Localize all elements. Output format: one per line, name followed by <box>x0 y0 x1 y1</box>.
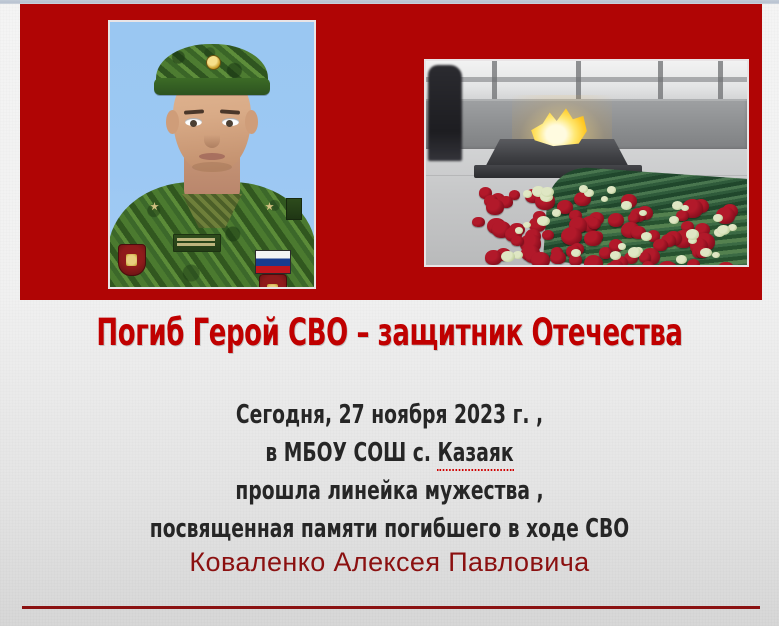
uniform-nametag-patch <box>173 234 221 252</box>
carnation-calyx <box>537 216 550 226</box>
body-paragraph: Сегодня, 27 ноября 2023 г. , в МБОУ СОШ … <box>0 396 779 548</box>
misspelled-word-kazayak: Казаяк <box>437 438 513 471</box>
carnation-flower <box>542 230 553 240</box>
hero-name: Коваленко Алексея Павловича <box>0 546 779 578</box>
carnation-flower <box>657 261 678 265</box>
carnation-flower <box>588 218 601 229</box>
memorial-slide: Погиб Герой СВО – защитник Отечества Сег… <box>0 0 779 626</box>
carnation-calyx <box>601 196 608 202</box>
nose <box>204 126 220 148</box>
red-banner-block <box>20 4 762 300</box>
ear-left <box>166 110 179 134</box>
unit-patch-left-icon <box>118 244 146 276</box>
carnation-calyx <box>700 248 712 257</box>
russian-flag-patch-icon <box>255 250 291 274</box>
carnation-calyx <box>717 225 730 235</box>
pupil-right <box>226 120 233 127</box>
carnation-calyx <box>712 252 720 258</box>
carnation-flower <box>584 231 601 246</box>
carnation-flower <box>511 236 523 247</box>
carnation-calyx <box>552 209 561 216</box>
memorial-photo-frame <box>424 59 749 267</box>
chin-shadow <box>192 162 232 172</box>
carnation-calyx <box>515 227 524 234</box>
body-line-2: в МБОУ СОШ с. Казаяк <box>78 434 701 472</box>
carnation-calyx <box>641 232 652 241</box>
cap-cockade-icon <box>206 55 221 70</box>
carnation-flower <box>550 251 565 264</box>
carnation-flower <box>485 250 502 265</box>
body-line-1: Сегодня, 27 ноября 2023 г. , <box>78 396 701 434</box>
carnation-flower <box>531 252 549 265</box>
mouth <box>199 153 225 160</box>
carnation-calyx <box>523 190 532 198</box>
pupil-left <box>190 120 197 127</box>
carnation-calyx <box>686 229 699 239</box>
soldier-portrait-frame <box>108 20 316 289</box>
carnation-calyx <box>523 222 530 228</box>
carnation-calyx <box>618 243 626 249</box>
carnation-calyx <box>501 251 515 262</box>
carnation-flower <box>472 217 484 228</box>
page-title: Погиб Герой СВО – защитник Отечества <box>86 311 694 355</box>
carnation-calyx <box>669 216 679 224</box>
carnation-flowers-group <box>426 61 747 265</box>
eternal-flame-carnations-photo <box>426 61 747 265</box>
carnation-flower <box>486 199 504 215</box>
carnation-calyx <box>607 186 617 194</box>
carnation-calyx <box>571 249 581 257</box>
body-line-2-prefix: в МБОУ СОШ с. <box>265 438 437 468</box>
shoulder-tab <box>286 198 302 220</box>
body-line-4: посвященная памяти погибшего в ходе СВО <box>78 510 701 548</box>
military-cap-band <box>154 78 270 95</box>
carnation-flower <box>717 262 734 265</box>
unit-patch-right-icon <box>259 274 287 287</box>
carnation-flower <box>642 261 654 265</box>
ear-right <box>245 110 258 134</box>
carnation-flower <box>687 259 700 265</box>
carnation-calyx <box>621 201 632 209</box>
soldier-portrait-photo <box>110 22 314 287</box>
carnation-calyx <box>676 255 687 264</box>
body-line-3: прошла линейка мужества , <box>78 472 701 510</box>
bottom-divider <box>22 606 760 609</box>
